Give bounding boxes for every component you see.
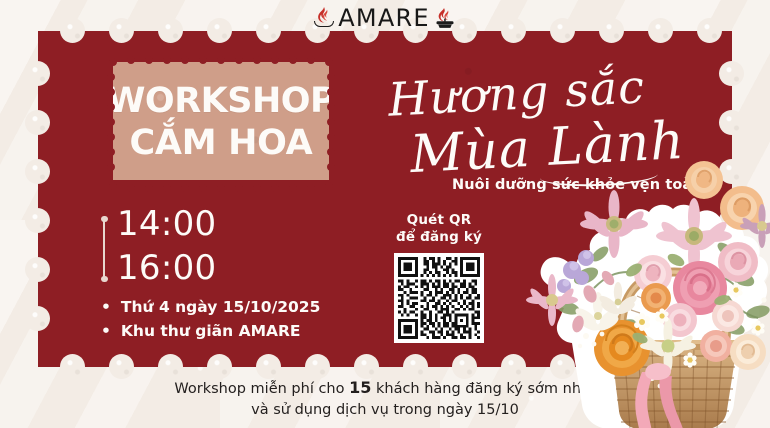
schedule-time-block: 14:00 16:00 [100, 203, 216, 290]
workshop-stamp-card: WORKSHOP CẮM HOA [113, 62, 329, 180]
start-time: 14:00 [117, 203, 216, 247]
footer-count: 15 [349, 378, 371, 397]
incense-urn-icon [433, 6, 457, 30]
brand-header: AMARE [0, 0, 770, 36]
qr-caption-line1: Quét QR [389, 212, 489, 229]
footer-prefix: Workshop miễn phí cho [174, 381, 349, 397]
bullet-marker: • [101, 322, 111, 340]
event-details-list: •Thứ 4 ngày 15/10/2025 •Khu thư giãn AMA… [101, 295, 320, 343]
time-range-rail-icon [100, 215, 109, 283]
stamp-title-line2: CẮM HOA [130, 126, 313, 161]
flower-basket-illustration [490, 150, 770, 428]
detail-text-prefix: Thứ 4 ngày [121, 298, 223, 316]
poster-canvas: AMARE [0, 0, 770, 428]
qr-caption-line2: để đăng ký [389, 229, 489, 246]
detail-text-prefix: Khu thư giãn AMARE [121, 322, 301, 340]
stamp-title-line2-wrap: CẮM HOA [130, 126, 313, 161]
detail-text-strong: 15/10/2025 [223, 298, 321, 316]
qr-code-icon[interactable] [394, 253, 484, 343]
stamp-title-line1: WORKSHOP [107, 84, 335, 119]
bullet-marker: • [101, 298, 111, 316]
brand-name: AMARE [338, 6, 429, 30]
incense-bowl-shape [314, 21, 334, 27]
list-item: •Khu thư giãn AMARE [101, 319, 320, 343]
end-time: 16:00 [117, 247, 216, 291]
qr-registration-block[interactable]: Quét QR để đăng ký [389, 212, 489, 343]
list-item: •Thứ 4 ngày 15/10/2025 [101, 295, 320, 319]
incense-flame-icon [313, 7, 335, 29]
